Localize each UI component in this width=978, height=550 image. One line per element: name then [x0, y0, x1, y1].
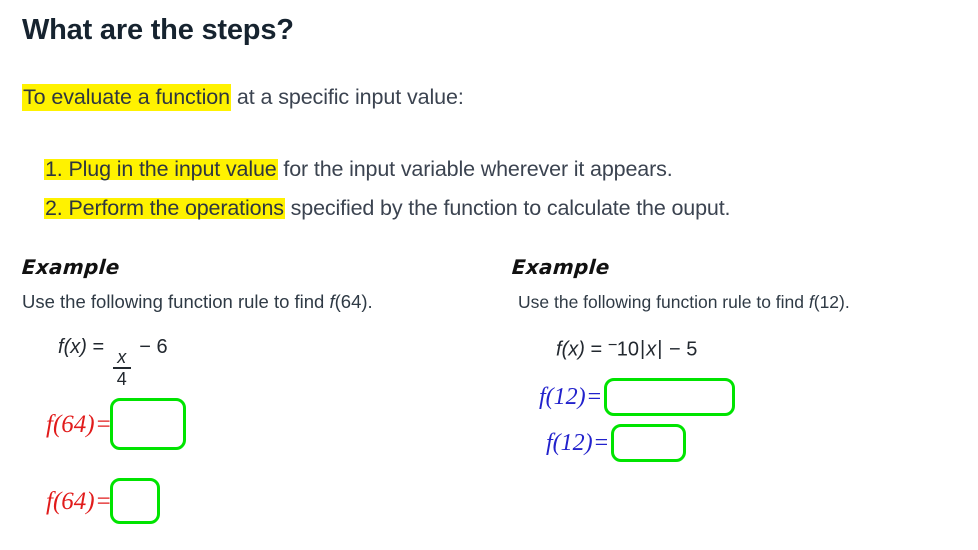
answer-left-1-arg: (64) [53, 411, 95, 438]
step-2-highlighted-phrase: 2. Perform the operations [44, 196, 285, 220]
answer-left-1-label: f(64)= [46, 412, 111, 437]
step-item-1: 1. Plug in the input value for the input… [44, 157, 673, 182]
example-left-formula: f(x) = x 4 − 6 [58, 336, 168, 388]
formula-right-negative-sign: − [608, 336, 617, 354]
formula-right-coefficient: 10 [617, 338, 639, 360]
answer-right-1-equals: = [586, 384, 602, 410]
example-right-prompt-prefix: Use the following function rule to find [518, 292, 809, 312]
answer-left-1-equals: = [95, 411, 111, 438]
step-1-highlighted-phrase: 1. Plug in the input value [44, 157, 278, 181]
page-title: What are the steps? [22, 14, 294, 47]
formula-right-tail: − 5 [669, 338, 697, 360]
formula-right-lhs-arg: (x) [562, 338, 585, 360]
answer-right-2-label: f(12)= [546, 431, 608, 455]
formula-left-fraction: x 4 [113, 348, 131, 388]
step-2-rest-text: specified by the function to calculate t… [285, 196, 731, 220]
answer-left-2-arg: (64) [53, 488, 95, 515]
abs-variable: x [646, 338, 656, 360]
example-left-prompt-prefix: Use the following function rule to find [22, 291, 329, 312]
formula-left-tail: − 6 [139, 336, 167, 358]
answer-row-right-1: f(12)= [539, 378, 735, 416]
abs-close-bar: | [656, 338, 663, 360]
formula-left-lhs-arg: (x) [64, 336, 87, 358]
answer-right-2-fn: f [546, 430, 553, 456]
example-left-heading: Example [21, 255, 120, 279]
example-right-prompt-arg: (12). [814, 292, 850, 312]
example-left-prompt: Use the following function rule to find … [22, 291, 373, 313]
answer-right-1-label: f(12)= [539, 385, 601, 409]
answer-row-right-2: f(12)= [546, 424, 686, 462]
intro-sentence: To evaluate a function at a specific inp… [22, 85, 464, 110]
fraction-denominator: 4 [113, 369, 131, 388]
step-1-rest-text: for the input variable wherever it appea… [278, 157, 673, 181]
intro-highlighted-phrase: To evaluate a function [22, 84, 231, 111]
example-right-heading: Example [511, 255, 610, 279]
formula-right-equals: = [590, 338, 602, 360]
answer-row-left-2: f(64)= [46, 478, 160, 524]
answer-right-1-arg: (12) [546, 384, 586, 410]
answer-left-2-fn: f [46, 488, 53, 515]
example-right-prompt: Use the following function rule to find … [518, 292, 850, 313]
answer-right-1-fn: f [539, 384, 546, 410]
answer-input-left-2[interactable] [110, 478, 160, 524]
answer-input-right-1[interactable] [604, 378, 735, 416]
answer-input-left-1[interactable] [110, 398, 186, 450]
answer-right-2-arg: (12) [553, 430, 593, 456]
intro-rest-text: at a specific input value: [231, 85, 464, 109]
example-left-prompt-arg: (64). [335, 291, 373, 312]
answer-left-1-fn: f [46, 411, 53, 438]
lesson-slide: What are the steps? To evaluate a functi… [0, 0, 978, 550]
answer-right-2-equals: = [593, 430, 609, 456]
answer-input-right-2[interactable] [611, 424, 686, 462]
answer-left-2-label: f(64)= [46, 489, 111, 514]
example-right-formula: f(x) = −10|x| − 5 [556, 336, 697, 361]
step-item-2: 2. Perform the operations specified by t… [44, 196, 730, 221]
answer-left-2-equals: = [95, 488, 111, 515]
formula-left-equals: = [92, 336, 104, 358]
answer-row-left-1: f(64)= [46, 398, 186, 450]
fraction-numerator: x [113, 348, 130, 367]
